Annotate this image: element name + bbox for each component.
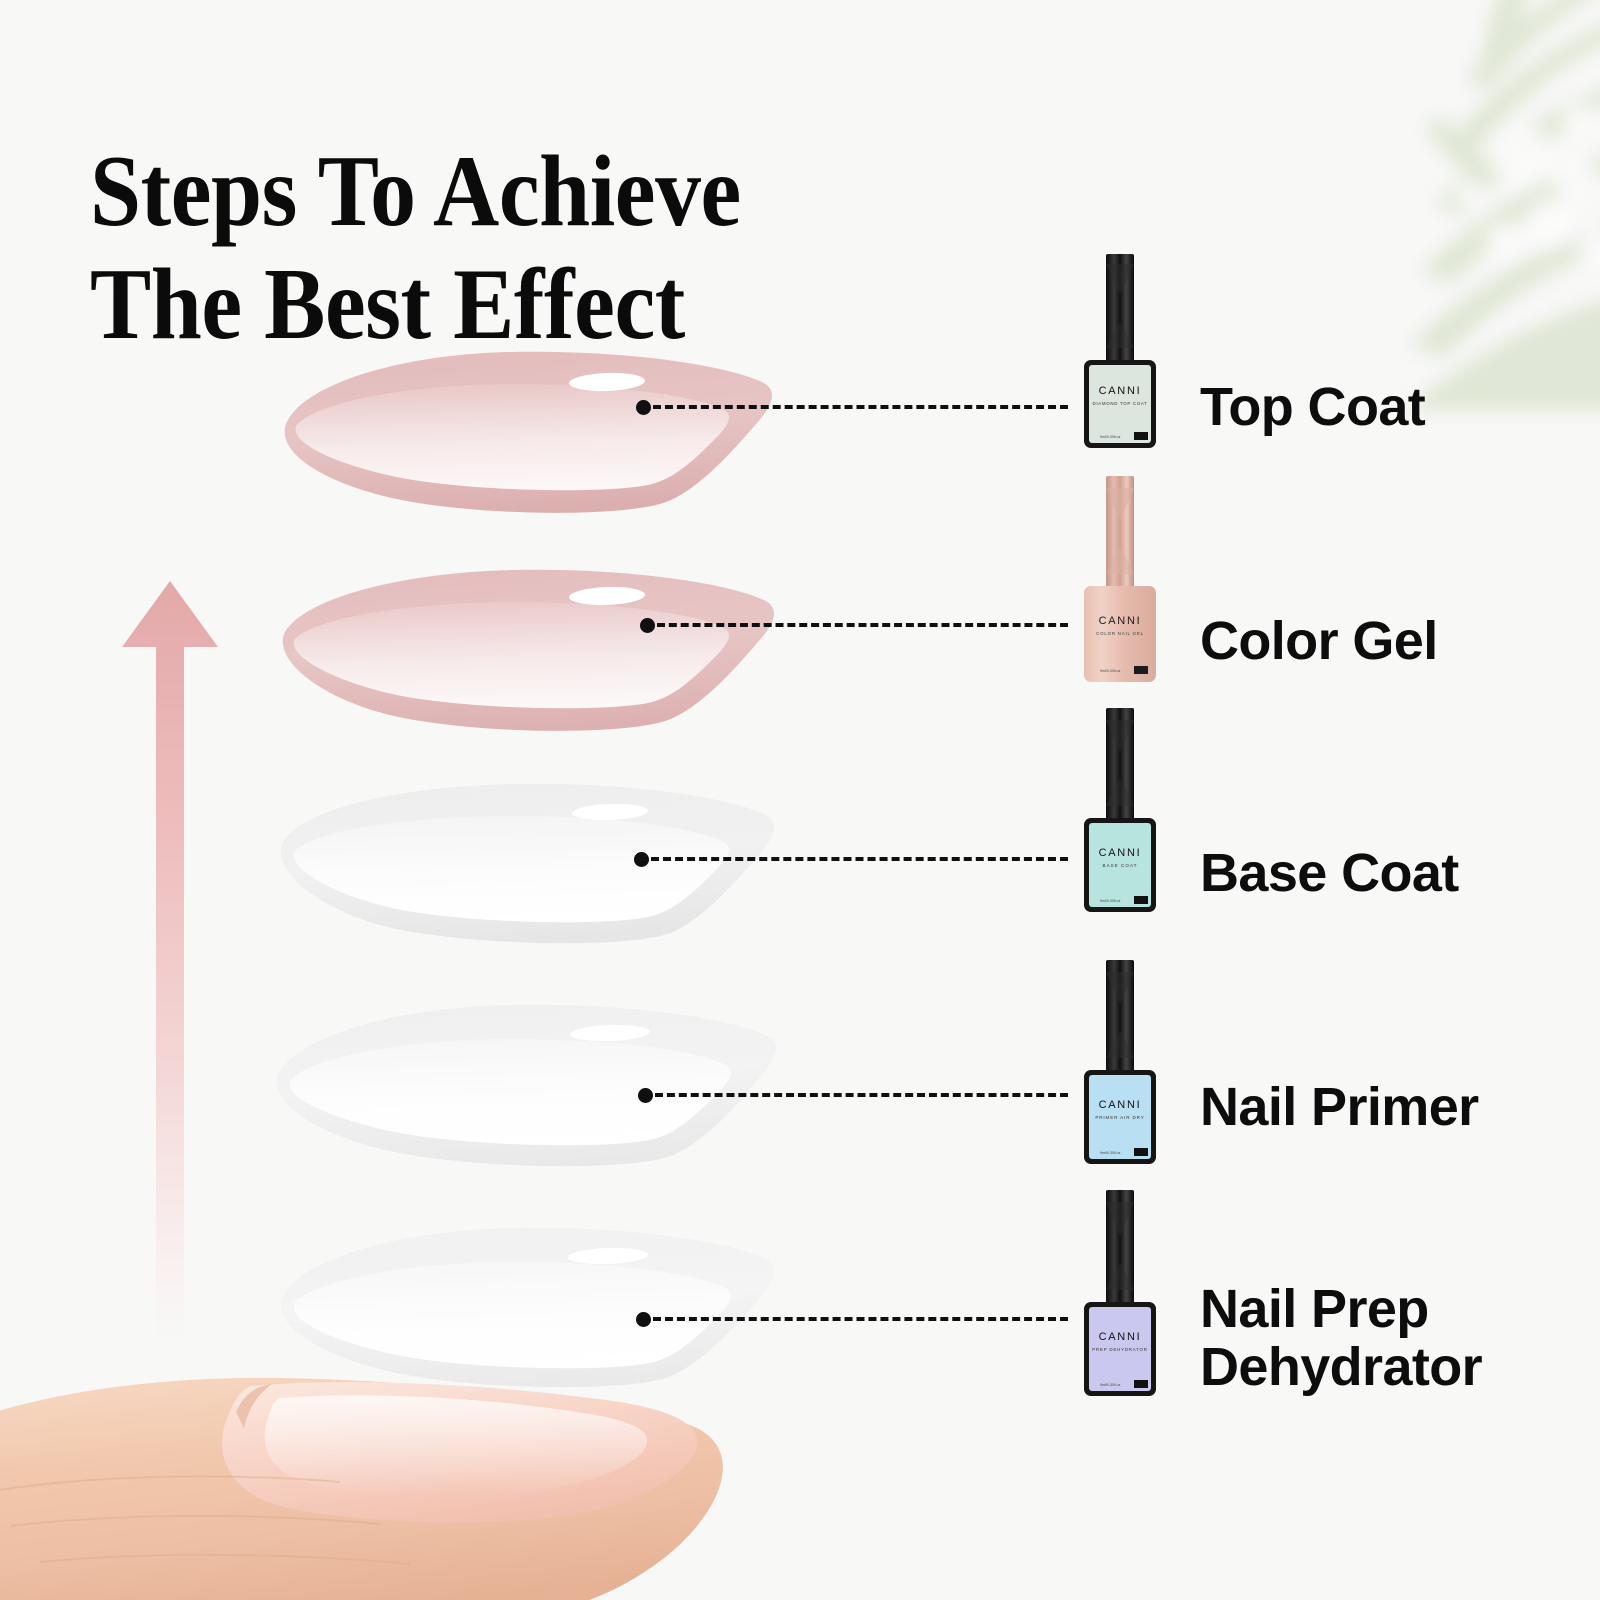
svg-text:9ml/0.30fl.oz: 9ml/0.30fl.oz	[1100, 669, 1121, 673]
connector-dash	[655, 1093, 1068, 1097]
step-label-top-coat: Top Coat	[1200, 378, 1425, 436]
page-title: Steps To AchieveThe Best Effect	[90, 136, 918, 360]
connector-dash	[653, 405, 1068, 409]
connector-dot	[638, 1088, 653, 1103]
svg-text:9ml/0.30fl.oz: 9ml/0.30fl.oz	[1100, 1383, 1121, 1387]
nail-layer-nail-primer	[250, 985, 790, 1175]
fingertip-illustration	[0, 1300, 780, 1600]
svg-text:CANNI: CANNI	[1099, 385, 1142, 397]
step-label-nail-primer: Nail Primer	[1200, 1078, 1479, 1136]
palm-leaf-icon	[1220, 0, 1600, 410]
connector-color-gel	[640, 618, 1068, 632]
step-label-nail-prep-dehydrator: Nail Prep Dehydrator	[1200, 1280, 1482, 1397]
step-label-base-coat: Base Coat	[1200, 844, 1459, 902]
title-line-1: Steps To Achieve	[90, 135, 741, 248]
svg-text:CANNI: CANNI	[1099, 1331, 1142, 1343]
svg-text:PREP DEHYDRATOR: PREP DEHYDRATOR	[1092, 1347, 1147, 1352]
svg-text:BASE COAT: BASE COAT	[1103, 863, 1138, 868]
connector-dot	[640, 618, 655, 633]
svg-text:COLOR NAIL GEL: COLOR NAIL GEL	[1096, 631, 1144, 636]
step-label-color-gel: Color Gel	[1200, 612, 1438, 670]
bottle-base-coat[interactable]: CANNI BASE COAT 9ml/0.30fl.oz	[1074, 706, 1166, 916]
connector-top-coat	[636, 400, 1068, 414]
connector-dash	[657, 623, 1068, 627]
connector-dot	[636, 400, 651, 415]
svg-text:CANNI: CANNI	[1099, 615, 1142, 627]
svg-text:CANNI: CANNI	[1099, 847, 1142, 859]
up-arrow-icon	[112, 575, 228, 1365]
bottle-nail-prep-dehydrator[interactable]: CANNI PREP DEHYDRATOR 9ml/0.30fl.oz	[1074, 1188, 1166, 1400]
nail-layer-color-gel	[262, 558, 782, 738]
svg-text:CANNI: CANNI	[1099, 1099, 1142, 1111]
bottle-color-gel[interactable]: CANNI COLOR NAIL GEL 9ml/0.30fl.oz	[1074, 474, 1166, 686]
connector-base-coat	[634, 852, 1068, 866]
infographic-canvas: Steps To AchieveThe Best Effect	[0, 0, 1600, 1600]
connector-nail-primer	[638, 1088, 1068, 1102]
svg-text:DIAMOND TOP COAT: DIAMOND TOP COAT	[1092, 401, 1147, 406]
svg-text:9ml/0.30fl.oz: 9ml/0.30fl.oz	[1100, 1151, 1121, 1155]
connector-dot	[634, 852, 649, 867]
connector-dash	[651, 857, 1068, 861]
svg-text:PRIMER AIR DRY: PRIMER AIR DRY	[1095, 1115, 1144, 1120]
bottle-nail-primer[interactable]: CANNI PRIMER AIR DRY 9ml/0.30fl.oz	[1074, 958, 1166, 1168]
svg-text:9ml/0.30fl.oz: 9ml/0.30fl.oz	[1100, 899, 1121, 903]
svg-text:9ml/0.30fl.oz: 9ml/0.30fl.oz	[1100, 435, 1121, 439]
nail-layer-top-coat	[262, 340, 782, 520]
bottle-top-coat[interactable]: CANNI DIAMOND TOP COAT 9ml/0.30fl.oz	[1074, 252, 1166, 452]
